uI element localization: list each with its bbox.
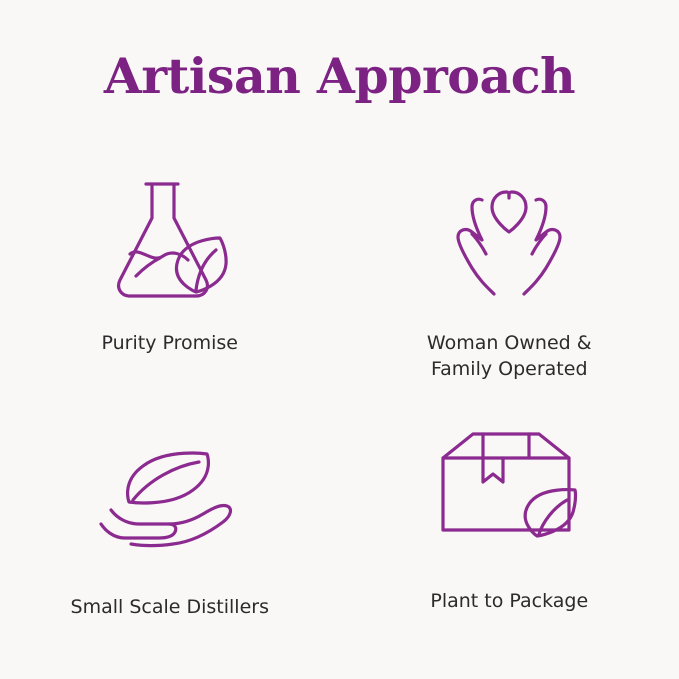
feature-label: Small Scale Distillers: [71, 594, 269, 620]
feature-item-small-scale-distillers: Small Scale Distillers: [0, 400, 340, 650]
feature-item-woman-owned: Woman Owned & Family Operated: [340, 150, 679, 400]
feature-label: Plant to Package: [430, 588, 588, 614]
hand-leaf-icon: [95, 424, 245, 574]
artisan-approach-panel: Artisan Approach Purity Promise: [0, 0, 679, 679]
page-title: Artisan Approach: [0, 46, 679, 106]
flask-leaf-icon: [100, 166, 240, 316]
feature-item-purity-promise: Purity Promise: [0, 150, 340, 400]
feature-label: Woman Owned & Family Operated: [427, 330, 592, 382]
feature-label: Purity Promise: [101, 330, 238, 356]
hands-heart-icon: [424, 166, 594, 316]
feature-grid: Purity Promise Woman Owned & Family Oper…: [0, 150, 679, 650]
box-leaf-icon: [429, 414, 589, 564]
feature-item-plant-to-package: Plant to Package: [340, 400, 679, 650]
